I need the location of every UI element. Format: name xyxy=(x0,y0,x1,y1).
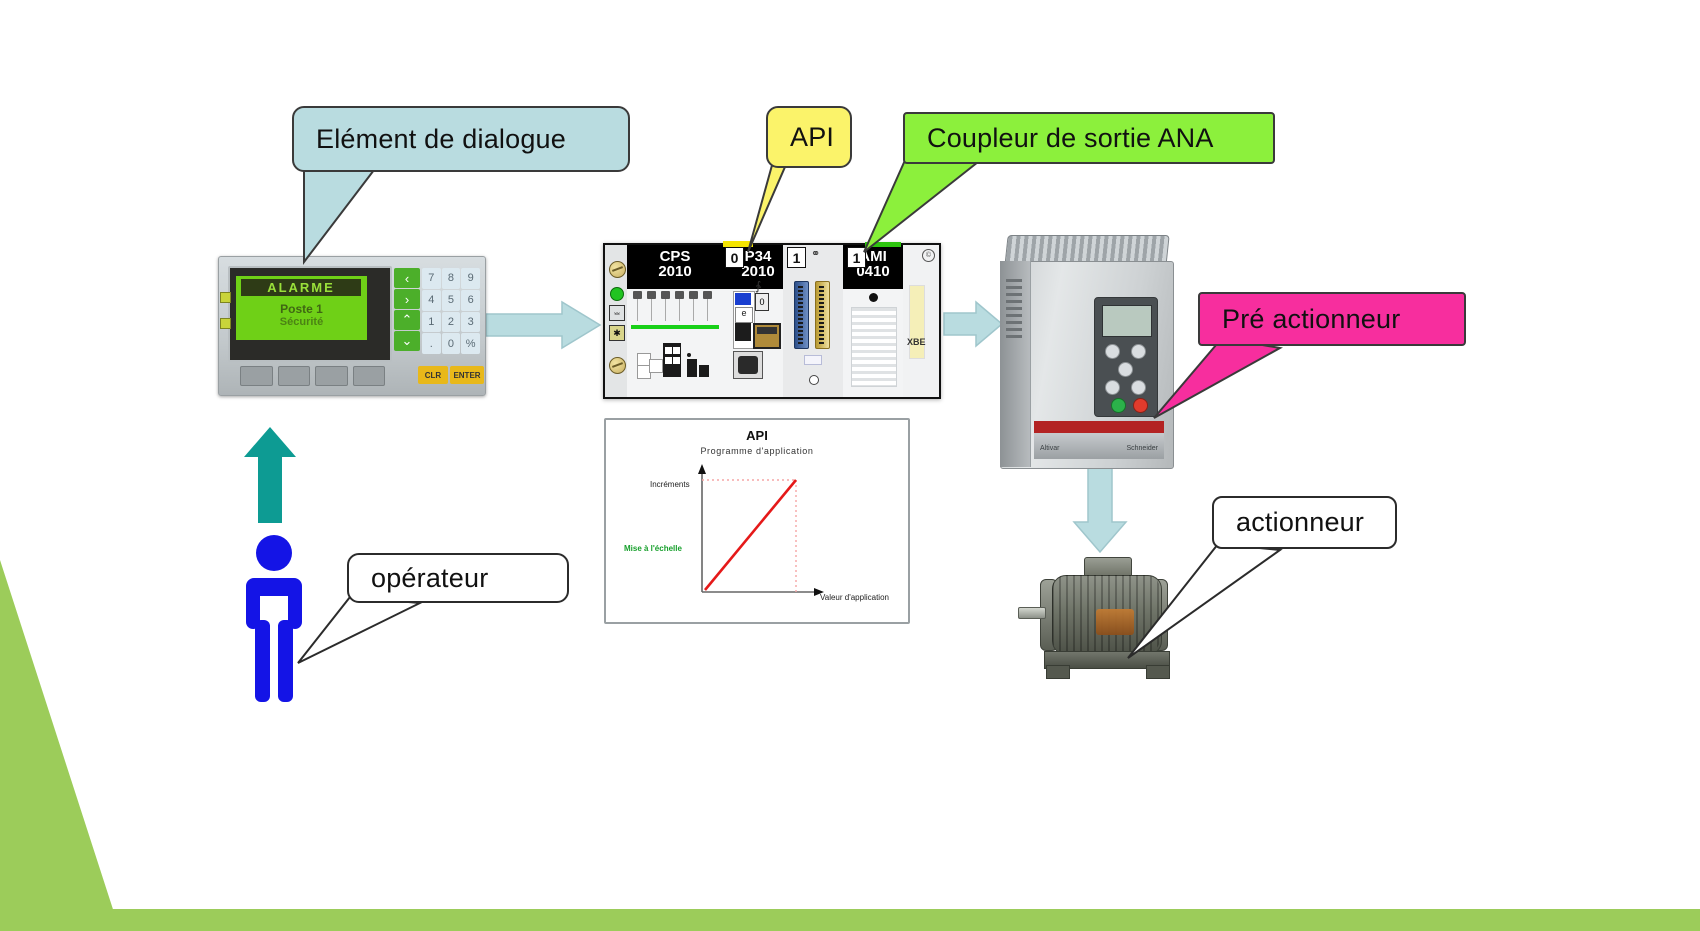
hmi-nav-left-icon[interactable]: ‹ xyxy=(394,268,420,288)
plc-rack[interactable]: ⏕ ✱ CPS 2010 xyxy=(603,243,941,399)
decorative-green-wedge-left xyxy=(0,560,150,931)
api-program-graph: API Programme d'application Incréments M… xyxy=(604,418,910,624)
graph-plot xyxy=(606,420,908,622)
screw-icon xyxy=(609,357,626,374)
cpu-connector-block xyxy=(735,323,751,341)
drive-maker-text: Schneider xyxy=(1126,445,1158,452)
hmi-numeric-keypad[interactable]: 7 8 9 4 5 6 1 2 3 . 0 % xyxy=(422,268,480,354)
arrow-operator-to-hmi xyxy=(240,425,302,525)
drive-button-up[interactable] xyxy=(1105,344,1120,359)
hmi-key-5[interactable]: 5 xyxy=(442,290,461,311)
slot-screw-hole-icon xyxy=(809,375,819,385)
callout-label-operateur: opérateur xyxy=(349,563,510,594)
hmi-screen-line2: Poste 1 xyxy=(236,302,367,316)
callout-label-api: API xyxy=(768,122,856,153)
analog-module-terminal-block xyxy=(851,307,897,387)
hmi-key-6[interactable]: 6 xyxy=(461,290,480,311)
callout-coupleur-de-sortie-ana[interactable]: Coupleur de sortie ANA xyxy=(903,112,1275,164)
drive-button-left[interactable] xyxy=(1105,380,1120,395)
hmi-clear-key[interactable]: CLR xyxy=(418,366,448,384)
cpu-usb-port-icon[interactable]: 0 xyxy=(755,293,769,311)
hmi-function-key-3[interactable] xyxy=(315,366,348,386)
power-led-icon xyxy=(610,287,624,301)
hmi-side-button-power[interactable] xyxy=(220,292,231,303)
hmi-key-2[interactable]: 2 xyxy=(442,312,461,333)
plc-module-power-supply-line1: CPS xyxy=(627,249,723,264)
power-supply-terminals xyxy=(633,291,717,323)
hmi-nav-pad[interactable]: ‹ › ⌃ ⌄ xyxy=(394,268,420,354)
callout-operateur[interactable]: opérateur xyxy=(347,553,569,603)
drive-brand-text: Altivar xyxy=(1040,445,1059,452)
slide-canvas: ALARME Poste 1 Sécurité ‹ › ⌃ ⌄ 7 8 9 4 … xyxy=(0,0,1700,931)
hmi-screen: ALARME Poste 1 Sécurité xyxy=(236,276,367,340)
hmi-key-0[interactable]: 0 xyxy=(442,333,461,354)
plc-mounting-rail: ⏕ ✱ xyxy=(605,245,628,397)
drive-terminal-cover: Altivar Schneider xyxy=(1034,433,1164,459)
connector-blue xyxy=(794,281,809,349)
hmi-key-percent[interactable]: % xyxy=(461,333,480,354)
hmi-nav-down-icon[interactable]: ⌄ xyxy=(394,331,420,351)
callout-label-actionneur: actionneur xyxy=(1214,507,1386,538)
callout-label-preactionneur: Pré actionneur xyxy=(1200,304,1422,335)
motor-shaft xyxy=(1018,607,1046,619)
rack-end-strip xyxy=(909,285,925,359)
cpu-display-icon: e xyxy=(735,307,753,323)
hmi-key-dot[interactable]: . xyxy=(422,333,441,354)
arrow-hmi-to-plc xyxy=(484,300,602,350)
power-supply-green-bar xyxy=(631,325,719,329)
plc-module-power-supply-line2: 2010 xyxy=(627,264,723,279)
motor-mounting-foot-left xyxy=(1046,665,1070,679)
hmi-terminal[interactable]: ALARME Poste 1 Sécurité ‹ › ⌃ ⌄ 7 8 9 4 … xyxy=(218,256,486,396)
callout-actionneur[interactable]: actionneur xyxy=(1212,496,1397,549)
hmi-nav-right-icon[interactable]: › xyxy=(394,289,420,309)
motor-mounting-foot-right xyxy=(1146,665,1170,679)
hmi-key-4[interactable]: 4 xyxy=(422,290,441,311)
callout-pre-actionneur[interactable]: Pré actionneur xyxy=(1198,292,1466,346)
hmi-function-key-2[interactable] xyxy=(278,366,311,386)
callout-element-de-dialogue[interactable]: Elément de dialogue xyxy=(292,106,630,172)
hmi-key-7[interactable]: 7 xyxy=(422,268,441,289)
callout-api[interactable]: API xyxy=(766,106,852,168)
slot-label-area xyxy=(804,355,822,365)
drive-button-run[interactable] xyxy=(1111,398,1126,413)
hmi-side-button-alarm[interactable] xyxy=(220,318,231,329)
ground-symbol-icon: ⏕ xyxy=(609,305,625,321)
usb-symbol-icon: ∱ xyxy=(755,279,761,293)
plc-module-power-supply[interactable]: CPS 2010 xyxy=(627,245,724,397)
rack-end-label: XBE xyxy=(907,337,926,347)
drive-ventilation-slots xyxy=(1006,279,1022,339)
cpu-serial-port[interactable] xyxy=(733,351,763,379)
hmi-function-key-4[interactable] xyxy=(353,366,386,386)
hmi-key-3[interactable]: 3 xyxy=(461,312,480,333)
connector-gold xyxy=(815,281,830,349)
decorative-green-bar-bottom xyxy=(0,909,1700,931)
fuse-icon: ✱ xyxy=(609,325,625,341)
plc-rack-end-cap: © XBE xyxy=(903,245,939,397)
callout-label-dialogue: Elément de dialogue xyxy=(294,124,588,155)
arrow-plc-to-drive xyxy=(942,300,1004,348)
hmi-nav-up-icon[interactable]: ⌃ xyxy=(394,310,420,330)
ethernet-rj45-port-icon[interactable] xyxy=(753,323,781,349)
hmi-key-8[interactable]: 8 xyxy=(442,268,461,289)
plc-module-power-supply-header: CPS 2010 xyxy=(627,245,723,289)
hmi-function-keys[interactable] xyxy=(240,366,385,386)
power-supply-wiring-diagram xyxy=(637,339,717,391)
hmi-function-key-1[interactable] xyxy=(240,366,273,386)
hmi-key-9[interactable]: 9 xyxy=(461,268,480,289)
callout-label-coupleur: Coupleur de sortie ANA xyxy=(905,123,1236,154)
cpu-status-led-blue xyxy=(735,293,751,305)
hmi-screen-line3: Sécurité xyxy=(236,316,367,328)
analog-module-led-icon xyxy=(869,293,878,302)
hmi-screen-title: ALARME xyxy=(241,279,361,296)
hmi-enter-key[interactable]: ENTER xyxy=(450,366,484,384)
hmi-key-1[interactable]: 1 xyxy=(422,312,441,333)
